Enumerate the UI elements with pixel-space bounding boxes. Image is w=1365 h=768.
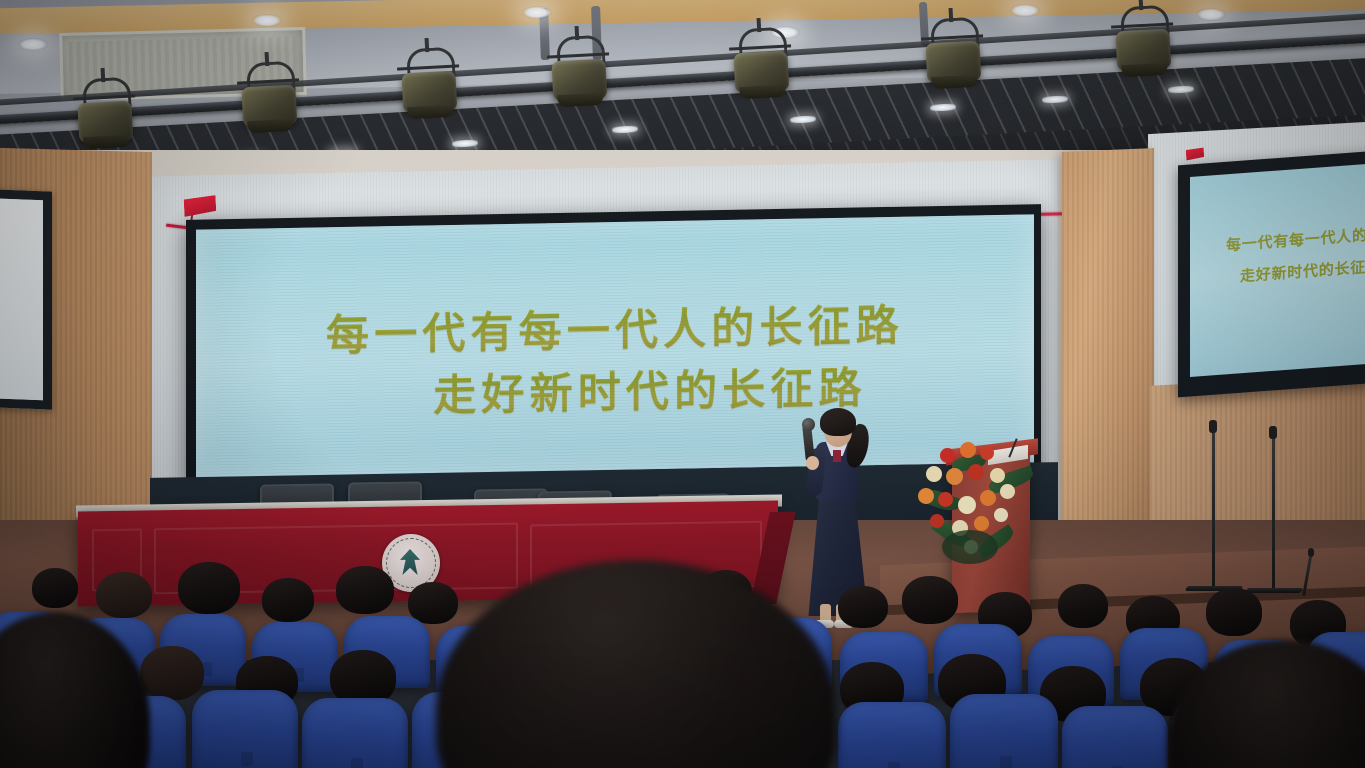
ceiling-downlight-2 [252, 14, 282, 27]
audience-seat-r2-7[interactable] [950, 694, 1058, 768]
audience-head-b2 [96, 572, 152, 618]
light-lens-icon [247, 119, 294, 133]
audience-head-b5 [336, 566, 394, 614]
audience-head-b15 [1206, 588, 1262, 636]
stage-light-6 [920, 16, 986, 93]
stage-light-1 [72, 76, 138, 153]
speaker-hair [820, 408, 856, 436]
microphone-head-icon [802, 418, 815, 431]
mic-stand-2-head-icon [1269, 426, 1277, 439]
audience-seat-r2-4[interactable] [302, 698, 408, 768]
flower-cream-2 [990, 468, 1005, 483]
recessed-light-5 [452, 139, 478, 147]
ceiling-downlight-5 [1010, 4, 1040, 17]
mic-stand-1-head-icon [1209, 420, 1217, 433]
recessed-light-8 [930, 103, 956, 111]
flower-red-3 [968, 464, 984, 480]
left-wall-framed-panel [0, 188, 52, 409]
stage-light-3 [396, 46, 462, 123]
flower-orange-4 [980, 490, 996, 506]
flower-cream-4 [1000, 484, 1015, 499]
flower-cream-6 [994, 508, 1008, 522]
audience-head-m2 [140, 646, 204, 700]
flower-red-5 [930, 514, 944, 528]
recessed-light-10 [1168, 85, 1194, 93]
flower-red-1 [940, 448, 955, 463]
light-lens-icon [931, 75, 978, 89]
floral-arrangement [918, 438, 1038, 568]
flower-orange-3 [918, 488, 934, 504]
flower-red-4 [938, 492, 953, 507]
flower-cream-1 [926, 466, 942, 482]
audience-seat-r2-6[interactable] [838, 702, 946, 768]
audience-head-b4 [262, 578, 314, 622]
ceiling-downlight-1 [18, 38, 48, 51]
light-lens-icon [739, 85, 786, 99]
side-slide-line-2: 走好新时代的长征路 [1190, 255, 1365, 290]
audience-head-b10 [838, 586, 888, 628]
flower-orange-2 [946, 468, 963, 485]
audience-head-b3 [178, 562, 240, 614]
ceiling-downlight-3 [522, 6, 552, 19]
recessed-light-7 [790, 115, 816, 123]
recessed-light-6 [612, 125, 638, 133]
light-lens-icon [557, 93, 604, 107]
main-led-screen[interactable]: 每一代有每一代人的长征路 走好新时代的长征路 [196, 214, 1034, 477]
audience-head-b11 [902, 576, 958, 624]
auditorium-photo: 每一代有每一代人的长征路 走好新时代的长征路 每一代有每一代人的长征路 走好新时… [0, 0, 1365, 768]
light-lens-icon [407, 105, 454, 119]
stage-light-4 [546, 34, 612, 111]
framed-panel-surface [0, 198, 43, 400]
speaker-hand [806, 456, 819, 470]
light-lens-icon [1121, 63, 1168, 77]
stage-light-5 [728, 26, 794, 103]
flower-orange-5 [974, 516, 989, 531]
flower-cream-3 [958, 496, 976, 514]
speaker-necktie [833, 450, 841, 462]
ceiling-downlight-6 [1196, 8, 1226, 21]
flower-red-2 [980, 446, 994, 460]
stage-light-7 [1110, 4, 1176, 81]
flower-orange-1 [960, 442, 976, 458]
side-projection-screen[interactable]: 每一代有每一代人的长征路 走好新时代的长征路 [1190, 163, 1365, 377]
recessed-light-9 [1042, 95, 1068, 103]
stage-light-2 [236, 60, 302, 137]
side-slide-line-1: 每一代有每一代人的长征路 [1190, 223, 1365, 258]
audience-seat-r2-8[interactable] [1062, 706, 1168, 768]
audience-head-b1 [32, 568, 78, 608]
audience-seat-r2-3[interactable] [192, 690, 298, 768]
audience-head-b13 [1058, 584, 1108, 628]
light-lens-icon [83, 135, 130, 149]
